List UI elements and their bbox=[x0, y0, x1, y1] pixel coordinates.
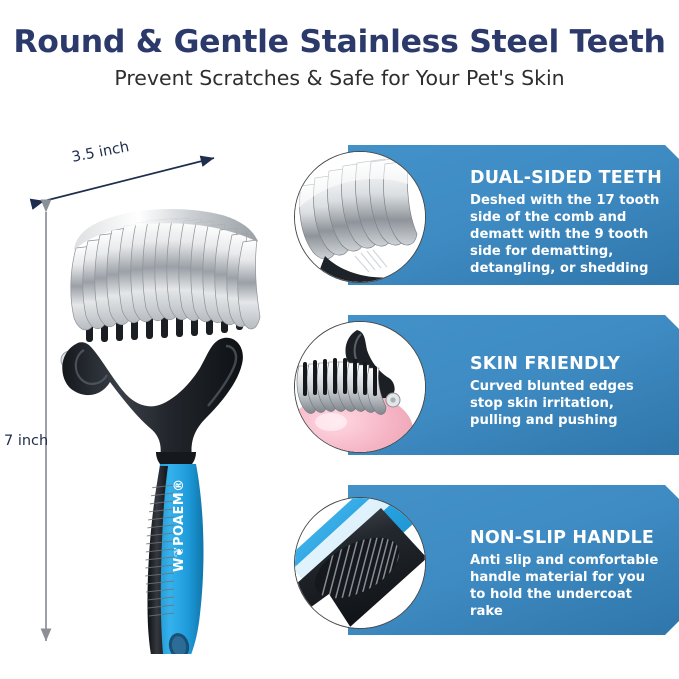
infographic-page: Round & Gentle Stainless Steel Teeth Pre… bbox=[0, 0, 679, 679]
card-title: SKIN FRIENDLY bbox=[470, 355, 663, 374]
product-panel: 3.5 inch 7 inch bbox=[0, 140, 292, 670]
black-yoke bbox=[62, 338, 243, 472]
card-text-block: DUAL-SIDED TEETH Deshed with the 17 toot… bbox=[470, 169, 663, 278]
page-subtitle: Prevent Scratches & Safe for Your Pet's … bbox=[0, 59, 679, 90]
card-title: NON-SLIP HANDLE bbox=[470, 529, 663, 548]
product-image-undercoat-rake: W❦POAEM® bbox=[40, 184, 280, 654]
card-text-block: SKIN FRIENDLY Curved blunted edges stop … bbox=[470, 355, 663, 430]
rake-on-pink-skin-icon bbox=[294, 321, 426, 453]
card-body: Deshed with the 17 tooth side of the com… bbox=[470, 193, 663, 277]
product-handle: W❦POAEM® bbox=[145, 464, 203, 654]
card-body: Anti slip and comfortable handle materia… bbox=[470, 553, 663, 621]
brand-text: W❦POAEM® bbox=[172, 478, 187, 572]
card-text-block: NON-SLIP HANDLE Anti slip and comfortabl… bbox=[470, 529, 663, 621]
page-title: Round & Gentle Stainless Steel Teeth bbox=[0, 0, 679, 59]
feature-card: NON-SLIP HANDLE Anti slip and comfortabl… bbox=[288, 485, 679, 635]
header: Round & Gentle Stainless Steel Teeth Pre… bbox=[0, 0, 679, 90]
feature-card: SKIN FRIENDLY Curved blunted edges stop … bbox=[288, 315, 679, 455]
ribbed-grip-closeup-icon bbox=[294, 497, 426, 629]
card-body: Curved blunted edges stop skin irritatio… bbox=[470, 379, 663, 430]
comb-teeth-closeup-icon bbox=[294, 151, 426, 283]
feature-card: DUAL-SIDED TEETH Deshed with the 17 toot… bbox=[288, 145, 679, 285]
feature-cards: DUAL-SIDED TEETH Deshed with the 17 toot… bbox=[288, 140, 679, 640]
card-title: DUAL-SIDED TEETH bbox=[470, 169, 663, 188]
